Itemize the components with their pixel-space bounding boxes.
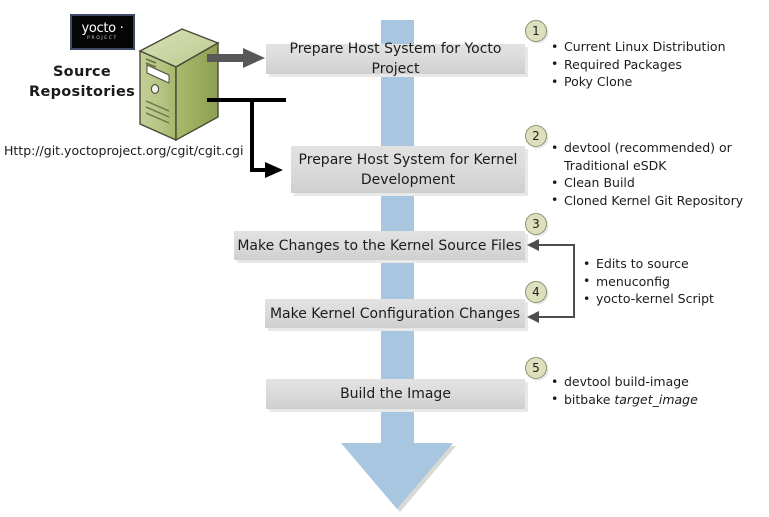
bullet-list-step2: devtool (recommended) or Traditional eSD… xyxy=(551,139,769,209)
bracket-connector-to-step4 xyxy=(537,316,575,318)
bullet-list-step1: Current Linux Distribution Required Pack… xyxy=(551,38,766,91)
list-item: devtool build-image xyxy=(551,373,766,391)
list-item: Clean Build xyxy=(551,174,769,192)
yocto-logo-subtext: PROJECT xyxy=(87,37,118,42)
source-repository-url: Http://git.yoctoproject.org/cgit/cgit.cg… xyxy=(4,143,243,158)
process-box-step1[interactable]: Prepare Host System for Yocto Project xyxy=(266,44,525,74)
server-icon xyxy=(136,27,222,143)
list-item: Current Linux Distribution xyxy=(551,38,766,56)
diagram-canvas: yocto · PROJECT Source Repositories Http… xyxy=(0,0,769,517)
list-item-text: Clean Build xyxy=(564,175,635,190)
step-number-badge-3: 3 xyxy=(525,213,547,235)
process-box-step5[interactable]: Build the Image xyxy=(266,379,525,409)
step-number-badge-5: 5 xyxy=(525,357,547,379)
source-repositories-label: Source Repositories xyxy=(22,62,142,102)
list-item-text: Cloned Kernel Git Repository xyxy=(564,193,743,208)
yocto-logo-wordmark: yocto · xyxy=(81,22,123,35)
arrowhead-left-icon xyxy=(527,311,539,323)
step-number-badge-4: 4 xyxy=(525,281,547,303)
bullet-list-step5: devtool build-image bitbake target_image xyxy=(551,373,766,408)
list-item-text: Edits to source xyxy=(596,256,689,271)
list-item-text-continued: Traditional eSDK xyxy=(564,157,769,175)
list-item: Edits to source xyxy=(583,255,768,273)
source-label-line2: Repositories xyxy=(22,82,142,102)
bullet-list-steps-3-and-4: Edits to source menuconfig yocto-kernel … xyxy=(583,255,768,308)
list-item-text-italic: target_image xyxy=(614,392,697,407)
list-item-text: Current Linux Distribution xyxy=(564,39,726,54)
connector-server-to-step2-segment1 xyxy=(207,98,286,102)
list-item: menuconfig xyxy=(583,273,768,291)
list-item: Poky Clone xyxy=(551,73,766,91)
list-item: bitbake target_image xyxy=(551,391,766,409)
arrowhead-right-icon xyxy=(265,162,283,178)
source-label-line1: Source xyxy=(22,62,142,82)
step-number-badge-1: 1 xyxy=(525,20,547,42)
process-box-step2[interactable]: Prepare Host System for Kernel Developme… xyxy=(291,146,525,193)
list-item-text: Required Packages xyxy=(564,57,682,72)
list-item: Required Packages xyxy=(551,56,766,74)
process-box-step3[interactable]: Make Changes to the Kernel Source Files xyxy=(234,231,525,260)
yocto-project-logo: yocto · PROJECT xyxy=(70,14,135,50)
bracket-connector-vertical xyxy=(573,245,575,318)
list-item-text: devtool build-image xyxy=(564,374,689,389)
list-item: yocto-kernel Script xyxy=(583,290,768,308)
bracket-connector-to-step3 xyxy=(537,244,575,246)
step-number-badge-2: 2 xyxy=(525,125,547,147)
list-item-text: menuconfig xyxy=(596,274,670,289)
list-item-text: yocto-kernel Script xyxy=(596,291,714,306)
connector-server-to-step1 xyxy=(207,54,247,62)
flow-arrow-head-icon xyxy=(341,443,453,509)
process-box-step4[interactable]: Make Kernel Configuration Changes xyxy=(265,299,525,328)
list-item-text: bitbake xyxy=(564,392,614,407)
arrowhead-right-icon xyxy=(243,48,265,68)
list-item-text: Poky Clone xyxy=(564,74,632,89)
list-item-text: devtool (recommended) or xyxy=(564,140,732,155)
connector-server-to-step2-segment2 xyxy=(250,98,254,168)
list-item: Cloned Kernel Git Repository xyxy=(551,192,769,210)
arrowhead-left-icon xyxy=(527,239,539,251)
list-item: devtool (recommended) or Traditional eSD… xyxy=(551,139,769,174)
